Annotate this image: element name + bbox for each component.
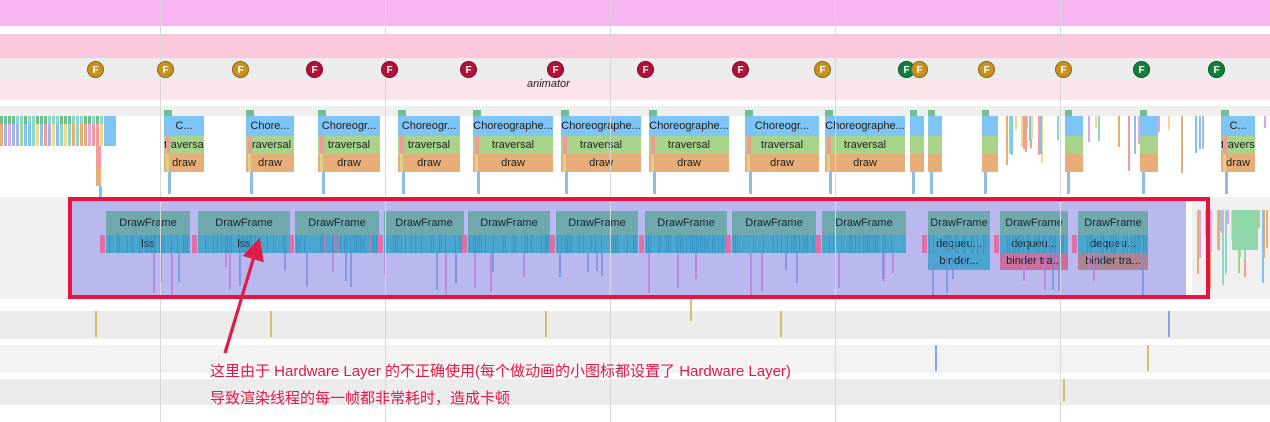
bottom-tick-8	[1063, 379, 1065, 401]
slice-fragment	[1031, 116, 1033, 139]
slice-tick	[72, 116, 75, 124]
slice-edge	[320, 136, 324, 154]
frame-marker-4[interactable]: F	[381, 61, 398, 78]
slice-edge	[827, 154, 830, 172]
choreographer-lane-bg	[0, 106, 1270, 116]
animator-label: animator	[527, 78, 570, 90]
systrace-screenshot: FFFFFFFFFFFFFFFF animator C...traversald…	[0, 0, 1270, 422]
slice-tick	[80, 124, 83, 146]
choreographer-slice-5[interactable]: Choreographe...	[561, 116, 641, 136]
slice-tick	[60, 124, 63, 146]
slice-marker	[1065, 110, 1072, 116]
frame-marker-6[interactable]: F	[547, 61, 564, 78]
slice-tick	[84, 124, 87, 146]
slice-tick	[40, 124, 43, 146]
choreographer-small-slice-4[interactable]	[1140, 136, 1158, 154]
slice-fragment	[1199, 116, 1201, 149]
draw-slice-4[interactable]: draw	[473, 154, 553, 172]
slice-tail	[168, 172, 171, 194]
bottom-tick-0	[95, 311, 97, 337]
slice-tick	[76, 124, 79, 146]
frame-marker-13[interactable]: F	[1055, 61, 1072, 78]
bottom-tick-7	[1147, 345, 1149, 371]
choreographer-small-slice-3[interactable]	[1065, 136, 1083, 154]
choreographer-small-slice-4[interactable]	[1140, 116, 1158, 136]
bottom-tick-2	[545, 311, 547, 337]
slice-tick	[8, 124, 11, 146]
slice-tick	[60, 116, 63, 124]
frame-marker-row	[0, 58, 1270, 80]
choreographer-small-slice-4[interactable]	[1140, 154, 1158, 172]
slice-fragment	[1025, 116, 1027, 152]
slice-edge	[248, 154, 251, 172]
frame-marker-9[interactable]: F	[814, 61, 831, 78]
slice-tick	[36, 124, 39, 146]
slice-tail	[1067, 172, 1070, 194]
slice-edge	[827, 136, 831, 154]
slice-tick	[12, 124, 15, 146]
frame-marker-12[interactable]: F	[978, 61, 995, 78]
side-slice	[1258, 210, 1260, 228]
slice-tick	[68, 116, 71, 124]
slice-tick	[96, 124, 99, 146]
slice-edge	[400, 136, 404, 154]
slice-fragment	[1009, 116, 1011, 154]
slice-tick	[32, 124, 35, 146]
slice-tick	[24, 116, 27, 124]
slice-tick	[52, 124, 55, 146]
slice-marker	[928, 110, 935, 116]
side-slice	[1227, 210, 1229, 224]
choreographer-slice-1[interactable]: Chore...	[246, 116, 294, 136]
slice-edge	[1223, 136, 1227, 154]
frame-marker-11[interactable]: F	[911, 61, 928, 78]
slice-tick	[100, 116, 103, 124]
slice-edge	[1223, 154, 1226, 172]
row-white-4	[0, 405, 1270, 422]
slice-fragment	[1134, 116, 1136, 154]
slice-fragment	[1057, 116, 1059, 140]
slice-tick	[64, 116, 67, 124]
choreographer-slice-9[interactable]: C...	[1221, 116, 1255, 136]
frame-marker-2[interactable]: F	[232, 61, 249, 78]
side-slice	[1218, 210, 1220, 250]
annotation-line-2: 导致渲染线程的每一帧都非常耗时，造成卡顿	[210, 387, 510, 408]
slice-fragment	[1202, 116, 1204, 149]
slice-edge	[747, 154, 750, 172]
slice-fragment	[1158, 116, 1160, 132]
slice-tick	[16, 124, 19, 146]
frame-marker-7[interactable]: F	[637, 61, 654, 78]
slice-tail	[1142, 172, 1145, 194]
draw-slice-7[interactable]: draw	[745, 154, 819, 172]
frame-marker-8[interactable]: F	[732, 61, 749, 78]
slice-tick	[92, 116, 95, 124]
slice-fragment	[1088, 116, 1090, 142]
side-slice	[1210, 210, 1212, 252]
traversal-slice-4[interactable]: traversal	[473, 136, 553, 154]
slice-marker	[910, 110, 917, 116]
frame-marker-1[interactable]: F	[157, 61, 174, 78]
slice-tick	[44, 124, 47, 146]
choreographer-slice-3[interactable]: Choreogr...	[398, 116, 460, 136]
render-lane-side-left	[0, 197, 68, 299]
slice-tick	[68, 124, 71, 146]
slice-edge	[747, 136, 751, 154]
slice-tick	[52, 116, 55, 124]
slice-tick	[96, 116, 99, 124]
slice-tick	[88, 124, 91, 146]
slice-fragment	[104, 116, 116, 146]
slice-edge	[475, 136, 479, 154]
draw-slice-5[interactable]: draw	[561, 154, 641, 172]
traversal-slice-6[interactable]: traversal	[649, 136, 729, 154]
side-slice	[1262, 210, 1264, 283]
slice-edge	[563, 136, 567, 154]
slice-tail	[829, 172, 832, 194]
slice-tail	[930, 172, 933, 194]
slice-tick	[4, 116, 7, 124]
choreographer-slice-4[interactable]: Choreographe...	[473, 116, 553, 136]
traversal-slice-0[interactable]: traversal	[164, 136, 204, 154]
slice-tail	[1225, 172, 1228, 194]
side-slice	[1232, 210, 1258, 250]
slice-fragment	[1098, 116, 1100, 141]
band-pink	[0, 34, 1270, 58]
frame-marker-0[interactable]: F	[87, 61, 104, 78]
slice-tick	[32, 116, 35, 124]
bottom-tick-5	[935, 345, 937, 371]
slice-tail	[402, 172, 405, 194]
choreographer-small-slice-2[interactable]	[982, 116, 998, 136]
traversal-slice-2[interactable]: traversal	[318, 136, 380, 154]
choreographer-slice-6[interactable]: Choreographe...	[649, 116, 729, 136]
slice-tail	[984, 172, 987, 194]
slice-edge	[563, 154, 566, 172]
slice-tick	[84, 116, 87, 124]
choreographer-small-slice-1[interactable]	[928, 136, 942, 154]
band-magenta	[0, 0, 1270, 26]
slice-tick	[56, 116, 59, 124]
slice-tick	[92, 124, 95, 146]
row-gray-1	[0, 311, 1270, 339]
traversal-slice-3[interactable]: traversal	[398, 136, 460, 154]
choreographer-small-slice-3[interactable]	[1065, 154, 1083, 172]
slice-tick	[0, 116, 3, 124]
traversal-slice-8[interactable]: traversal	[825, 136, 905, 154]
slice-fragment	[1181, 116, 1183, 173]
slice-edge	[166, 154, 169, 172]
slice-edge	[475, 154, 478, 172]
slice-marker	[1140, 110, 1147, 116]
choreographer-small-slice-2[interactable]	[982, 154, 998, 172]
slice-edge	[651, 136, 655, 154]
slice-tick	[76, 116, 79, 124]
slice-tail	[653, 172, 656, 194]
slice-fragment	[96, 168, 101, 186]
side-slice	[1221, 210, 1223, 233]
draw-slice-3[interactable]: draw	[398, 154, 460, 172]
slice-fragment	[1118, 116, 1120, 147]
choreographer-slice-7[interactable]: Choreogr...	[745, 116, 819, 136]
slice-fragment	[1011, 116, 1013, 155]
traversal-slice-5[interactable]: traversal	[561, 136, 641, 154]
frame-marker-5[interactable]: F	[460, 61, 477, 78]
slice-tick	[24, 124, 27, 146]
frame-marker-14[interactable]: F	[1133, 61, 1150, 78]
choreographer-small-slice-0[interactable]	[910, 136, 924, 154]
slice-tick	[64, 124, 67, 146]
draw-slice-0[interactable]: draw	[164, 154, 204, 172]
slice-marker	[982, 110, 989, 116]
slice-edge	[400, 154, 403, 172]
choreographer-small-slice-2[interactable]	[982, 136, 998, 154]
bottom-tick-4	[780, 311, 782, 337]
band-white-gap1	[0, 26, 1270, 34]
slice-tick	[20, 124, 23, 146]
draw-slice-8[interactable]: draw	[825, 154, 905, 172]
bottom-tick-3	[690, 299, 692, 321]
highlight-box	[68, 197, 1210, 299]
choreographer-small-slice-1[interactable]	[928, 116, 942, 136]
slice-edge	[651, 154, 654, 172]
draw-slice-6[interactable]: draw	[649, 154, 729, 172]
traversal-slice-7[interactable]: traversal	[745, 136, 819, 154]
slice-fragment	[1168, 116, 1170, 130]
slice-tick	[12, 116, 15, 124]
draw-slice-9[interactable]: draw	[1221, 154, 1255, 172]
slice-tick	[8, 116, 11, 124]
slice-fragment	[1015, 116, 1017, 130]
slice-tick	[40, 116, 43, 124]
slice-tick	[20, 116, 23, 124]
frame-marker-3[interactable]: F	[306, 61, 323, 78]
slice-fragment	[1095, 116, 1097, 128]
slice-tick	[100, 124, 103, 146]
side-slice	[1266, 210, 1268, 248]
slice-fragment	[1195, 116, 1197, 153]
slice-fragment	[1128, 116, 1130, 171]
choreographer-small-slice-3[interactable]	[1065, 116, 1083, 136]
choreographer-small-slice-1[interactable]	[928, 154, 942, 172]
slice-tick	[48, 116, 51, 124]
choreographer-small-slice-0[interactable]	[910, 154, 924, 172]
choreographer-slice-2[interactable]: Choreogr...	[318, 116, 380, 136]
slice-fragment	[1038, 116, 1040, 155]
slice-tail	[477, 172, 480, 194]
frame-marker-15[interactable]: F	[1208, 61, 1225, 78]
draw-slice-2[interactable]: draw	[318, 154, 380, 172]
slice-tick	[16, 116, 19, 124]
slice-fragment	[1040, 116, 1042, 154]
choreographer-small-slice-0[interactable]	[910, 116, 924, 136]
slice-tick	[56, 124, 59, 146]
slice-tick	[4, 124, 7, 146]
bottom-tick-1	[270, 311, 272, 337]
slice-tick	[44, 116, 47, 124]
slice-tick	[88, 116, 91, 124]
band-lightpink	[0, 80, 1270, 100]
slice-fragment	[1264, 116, 1266, 128]
slice-tick	[48, 124, 51, 146]
slice-tick	[28, 124, 31, 146]
slice-edge	[166, 136, 170, 154]
slice-tail	[322, 172, 325, 194]
slice-tick	[36, 116, 39, 124]
slice-tick	[28, 116, 31, 124]
draw-slice-1[interactable]: draw	[246, 154, 294, 172]
bottom-tick-6	[1168, 311, 1170, 337]
slice-edge	[248, 136, 252, 154]
slice-tick	[0, 124, 3, 146]
slice-tail	[565, 172, 568, 194]
slice-fragment	[1029, 116, 1031, 141]
choreographer-slice-8[interactable]: Choreographe...	[825, 116, 905, 136]
slice-edge	[320, 154, 323, 172]
slice-tick	[80, 116, 83, 124]
row-white-1	[0, 299, 1270, 311]
choreographer-slice-0[interactable]: C...	[164, 116, 204, 136]
traversal-slice-1[interactable]: traversal	[246, 136, 294, 154]
slice-fragment	[1023, 116, 1025, 149]
slice-fragment	[96, 146, 101, 168]
slice-tail	[749, 172, 752, 194]
slice-tail	[250, 172, 253, 194]
annotation-line-1: 这里由于 Hardware Layer 的不正确使用(每个做动画的小图标都设置了…	[210, 360, 791, 381]
slice-tick	[72, 124, 75, 146]
slice-fragment	[1006, 116, 1008, 165]
slice-tail	[912, 172, 915, 194]
row-gray-3	[0, 379, 1270, 405]
